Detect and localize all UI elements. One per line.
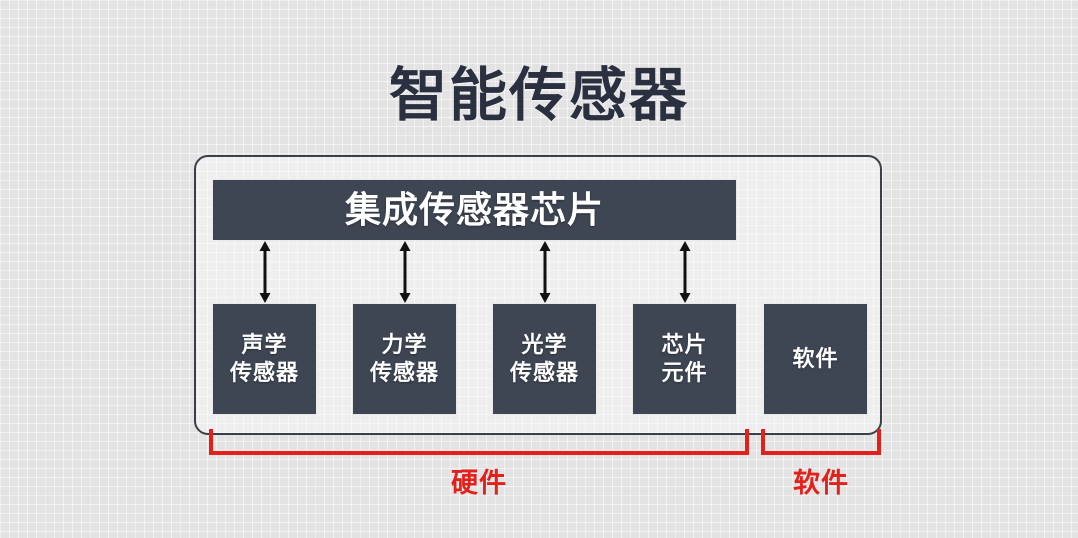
software-bracket — [761, 429, 881, 455]
hardware-bracket — [209, 429, 749, 455]
component-label-line-2: 传感器 — [370, 359, 439, 387]
diagram-stage: 智能传感器 集成传感器芯片 声学 — [0, 0, 1078, 538]
double-arrow-icon-chip — [678, 241, 692, 303]
software-bracket-label: 软件 — [761, 461, 881, 500]
component-label-line-1: 光学 — [521, 331, 567, 359]
component-label-line-1: 软件 — [792, 345, 838, 373]
component-box-mechanical-sensor: 力学 传感器 — [352, 303, 457, 415]
component-box-software: 软件 — [763, 303, 868, 415]
page-title: 智能传感器 — [0, 66, 1078, 127]
integrated-sensor-chip-label: 集成传感器芯片 — [345, 192, 604, 228]
component-label-line-1: 力学 — [381, 331, 427, 359]
component-box-acoustic-sensor: 声学 传感器 — [212, 303, 317, 415]
component-label-line-2: 元件 — [661, 359, 707, 387]
component-box-chip-component: 芯片 元件 — [632, 303, 737, 415]
hardware-bracket-label: 硬件 — [209, 461, 749, 500]
double-arrow-icon-acoustic — [258, 241, 272, 303]
double-arrow-icon-mechanical — [398, 241, 412, 303]
integrated-sensor-chip-box: 集成传感器芯片 — [212, 179, 737, 241]
component-label-line-2: 传感器 — [510, 359, 579, 387]
double-arrow-icon-optical — [538, 241, 552, 303]
component-label-line-2: 传感器 — [230, 359, 299, 387]
component-box-optical-sensor: 光学 传感器 — [492, 303, 597, 415]
component-label-line-1: 芯片 — [661, 331, 707, 359]
component-label-line-1: 声学 — [241, 331, 287, 359]
